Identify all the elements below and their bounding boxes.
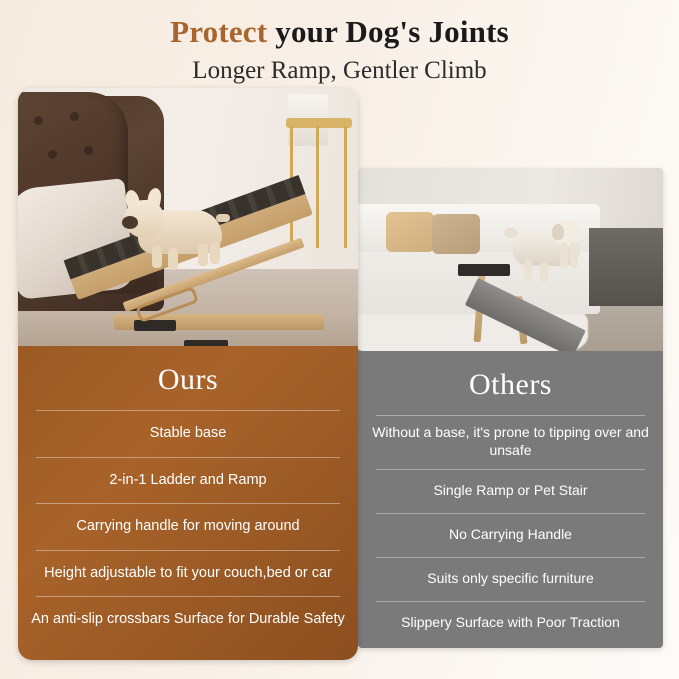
dog-leg-1 bbox=[524, 260, 532, 280]
ours-panel: Ours Stable base 2-in-1 Ladder and Ramp … bbox=[18, 346, 358, 660]
side-table-top bbox=[286, 118, 352, 128]
dog-leg-2 bbox=[168, 248, 178, 270]
list-item: Suits only specific furniture bbox=[358, 557, 663, 601]
comparison-section: Others Without a base, it's prone to tip… bbox=[0, 88, 679, 668]
header: Protect your Dog's Joints Longer Ramp, G… bbox=[0, 0, 679, 85]
list-item: Height adjustable to fit your couch,bed … bbox=[18, 550, 358, 597]
dog-leg-4 bbox=[570, 242, 578, 268]
list-item: Carrying handle for moving around bbox=[18, 503, 358, 550]
ours-photo bbox=[18, 88, 358, 346]
others-photo bbox=[358, 168, 663, 351]
list-item: Stable base bbox=[18, 410, 358, 457]
pillow-tan bbox=[386, 212, 434, 252]
page-subtitle: Longer Ramp, Gentler Climb bbox=[0, 57, 679, 86]
dog-snout bbox=[122, 216, 138, 229]
side-table-leg-3 bbox=[344, 126, 347, 248]
dog-leg-3 bbox=[198, 244, 208, 266]
dog-tail bbox=[216, 214, 230, 222]
french-bulldog bbox=[124, 196, 228, 270]
ours-column: Ours Stable base 2-in-1 Ladder and Ramp … bbox=[18, 88, 358, 660]
list-item: No Carrying Handle bbox=[358, 513, 663, 557]
page-title: Protect your Dog's Joints bbox=[0, 14, 679, 50]
small-white-dog bbox=[502, 220, 586, 284]
dog-leg-4 bbox=[210, 242, 220, 264]
couch-tuft bbox=[70, 112, 79, 121]
others-scene-illustration bbox=[358, 168, 663, 351]
ours-feature-list: Stable base 2-in-1 Ladder and Ramp Carry… bbox=[18, 410, 358, 643]
list-item: Slippery Surface with Poor Traction bbox=[358, 601, 663, 645]
dog-leg-3 bbox=[560, 242, 568, 268]
ours-scene-illustration bbox=[18, 88, 358, 346]
headline-accent-word: Protect bbox=[170, 14, 267, 49]
headline-rest: your Dog's Joints bbox=[267, 14, 509, 49]
product-comparison-page: Protect your Dog's Joints Longer Ramp, G… bbox=[0, 0, 679, 679]
couch-tuft bbox=[34, 116, 43, 125]
side-table-leg-2 bbox=[316, 126, 319, 248]
list-item: Single Ramp or Pet Stair bbox=[358, 469, 663, 513]
dog-ear bbox=[552, 224, 564, 240]
couch-tuft bbox=[84, 146, 93, 155]
others-title: Others bbox=[358, 351, 663, 415]
others-feature-list: Without a base, it's prone to tipping ov… bbox=[358, 415, 663, 644]
ramp-step-1 bbox=[134, 320, 176, 331]
dog-leg-2 bbox=[540, 262, 548, 282]
list-item: Without a base, it's prone to tipping ov… bbox=[358, 415, 663, 469]
pillow-beige bbox=[432, 214, 480, 254]
dog-tail bbox=[504, 228, 518, 238]
dark-cabinet bbox=[589, 228, 663, 306]
ours-title: Ours bbox=[18, 346, 358, 410]
couch-tuft bbox=[48, 150, 57, 159]
dog-leg-1 bbox=[152, 246, 162, 268]
list-item: 2-in-1 Ladder and Ramp bbox=[18, 457, 358, 504]
list-item: An anti-slip crossbars Surface for Durab… bbox=[18, 596, 358, 643]
others-panel: Others Without a base, it's prone to tip… bbox=[358, 351, 663, 648]
others-column: Others Without a base, it's prone to tip… bbox=[358, 168, 663, 648]
